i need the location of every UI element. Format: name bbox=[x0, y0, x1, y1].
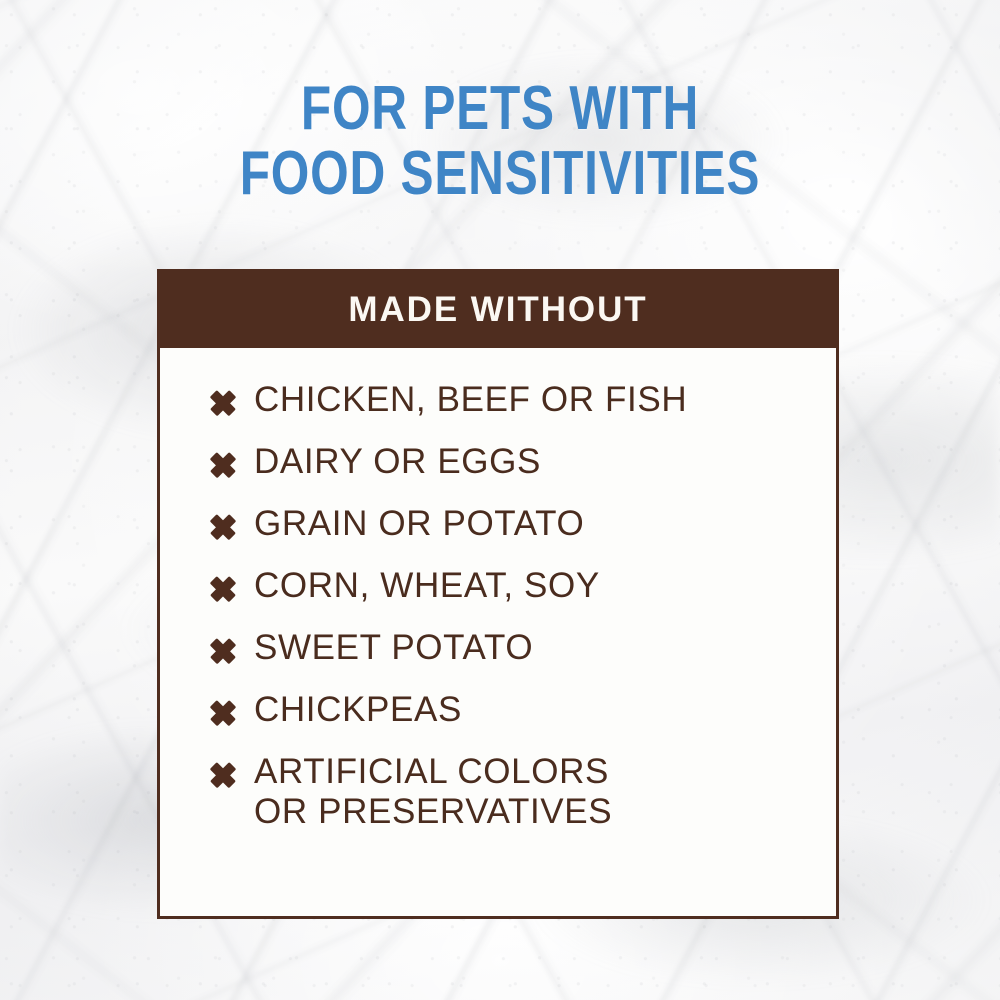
headline-line-2: FOOD SENSITIVITIES bbox=[100, 143, 900, 204]
list-item: CORN, WHEAT, SOY bbox=[208, 566, 810, 606]
list-item-label: GRAIN OR POTATO bbox=[254, 504, 584, 544]
list-item: ARTIFICIAL COLORS OR PRESERVATIVES bbox=[208, 752, 810, 832]
list-item: DAIRY OR EGGS bbox=[208, 442, 810, 482]
headline-block: FOR PETS WITH FOOD SENSITIVITIES bbox=[0, 78, 1000, 205]
x-mark-icon bbox=[208, 634, 238, 668]
list-item-label: ARTIFICIAL COLORS OR PRESERVATIVES bbox=[254, 752, 612, 832]
list-item-label: SWEET POTATO bbox=[254, 628, 533, 668]
excluded-ingredients-list: CHICKEN, BEEF OR FISH DAIRY OR EGGS GRAI… bbox=[208, 380, 810, 832]
list-item: CHICKEN, BEEF OR FISH bbox=[208, 380, 810, 420]
x-mark-icon bbox=[208, 758, 238, 792]
poster-canvas: FOR PETS WITH FOOD SENSITIVITIES MADE WI… bbox=[0, 0, 1000, 1000]
x-mark-icon bbox=[208, 696, 238, 730]
list-item: CHICKPEAS bbox=[208, 690, 810, 730]
made-without-card: MADE WITHOUT CHICKEN, BEEF OR FISH DAIRY… bbox=[157, 269, 839, 919]
list-item-label: CHICKPEAS bbox=[254, 690, 462, 730]
list-item-label: CORN, WHEAT, SOY bbox=[254, 566, 600, 606]
list-item-label: DAIRY OR EGGS bbox=[254, 442, 541, 482]
list-item: GRAIN OR POTATO bbox=[208, 504, 810, 544]
x-mark-icon bbox=[208, 386, 238, 420]
headline-line-1: FOR PETS WITH bbox=[100, 78, 900, 139]
card-header-bar: MADE WITHOUT bbox=[160, 272, 836, 348]
card-header-title: MADE WITHOUT bbox=[348, 290, 647, 330]
x-mark-icon bbox=[208, 510, 238, 544]
list-item-label: CHICKEN, BEEF OR FISH bbox=[254, 380, 687, 420]
x-mark-icon bbox=[208, 572, 238, 606]
list-item: SWEET POTATO bbox=[208, 628, 810, 668]
x-mark-icon bbox=[208, 448, 238, 482]
card-body: CHICKEN, BEEF OR FISH DAIRY OR EGGS GRAI… bbox=[160, 348, 836, 916]
